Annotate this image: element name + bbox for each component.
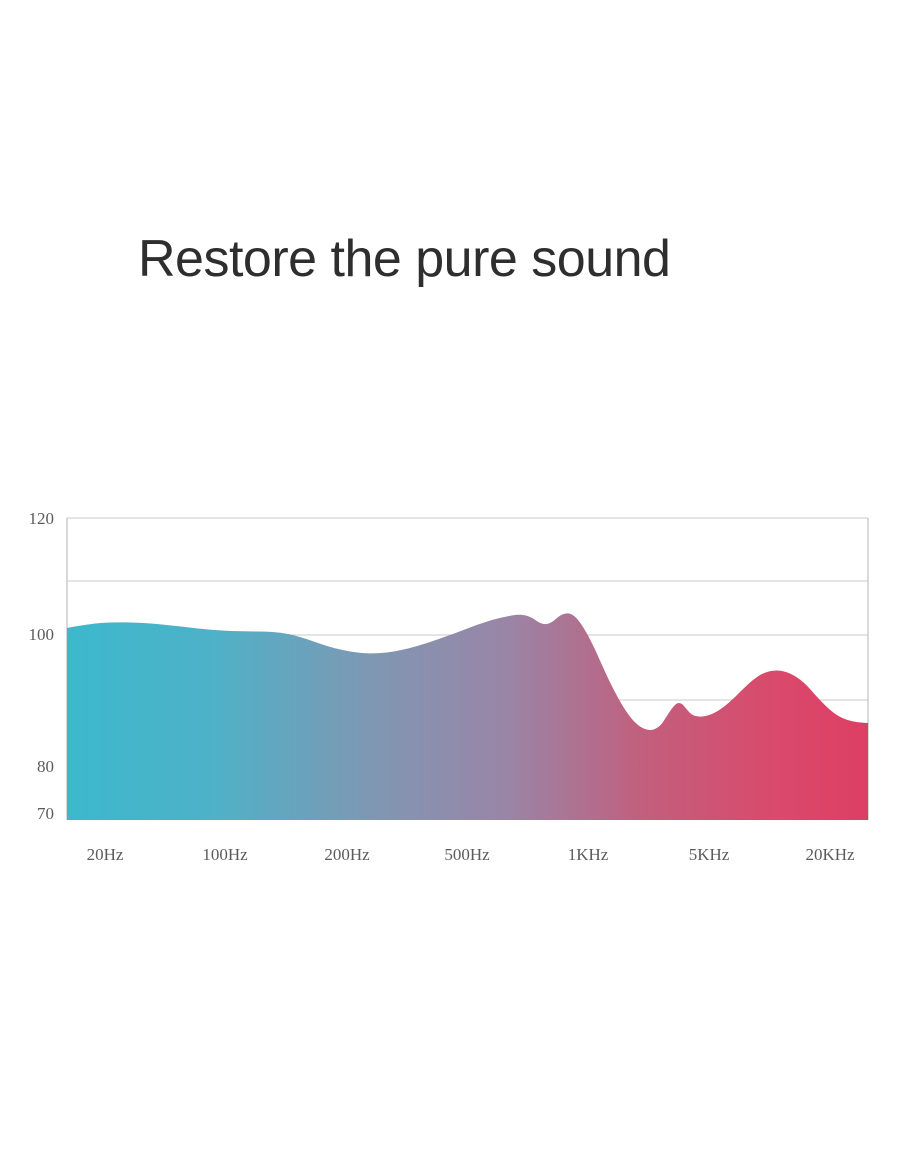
x-axis-tick-200hz: 200Hz [304,845,390,865]
x-axis-tick-20khz: 20KHz [787,845,873,865]
chart-canvas [0,500,910,880]
y-axis-tick-100: 100 [6,626,54,644]
y-axis-tick-120: 120 [6,510,54,528]
x-axis-tick-20hz: 20Hz [62,845,148,865]
y-axis-tick-70: 70 [6,805,54,823]
x-axis-tick-100hz: 100Hz [182,845,268,865]
frequency-response-chart: 120 100 80 70 20Hz 100Hz 200Hz 500Hz 1KH… [0,500,910,880]
x-axis-tick-500hz: 500Hz [424,845,510,865]
page-title: Restore the pure sound [138,224,838,294]
y-axis-tick-80: 80 [6,758,54,776]
x-axis-tick-1khz: 1KHz [545,845,631,865]
x-axis-tick-5khz: 5KHz [666,845,752,865]
response-area [67,613,868,820]
page-root: Restore the pure sound [0,0,910,1155]
